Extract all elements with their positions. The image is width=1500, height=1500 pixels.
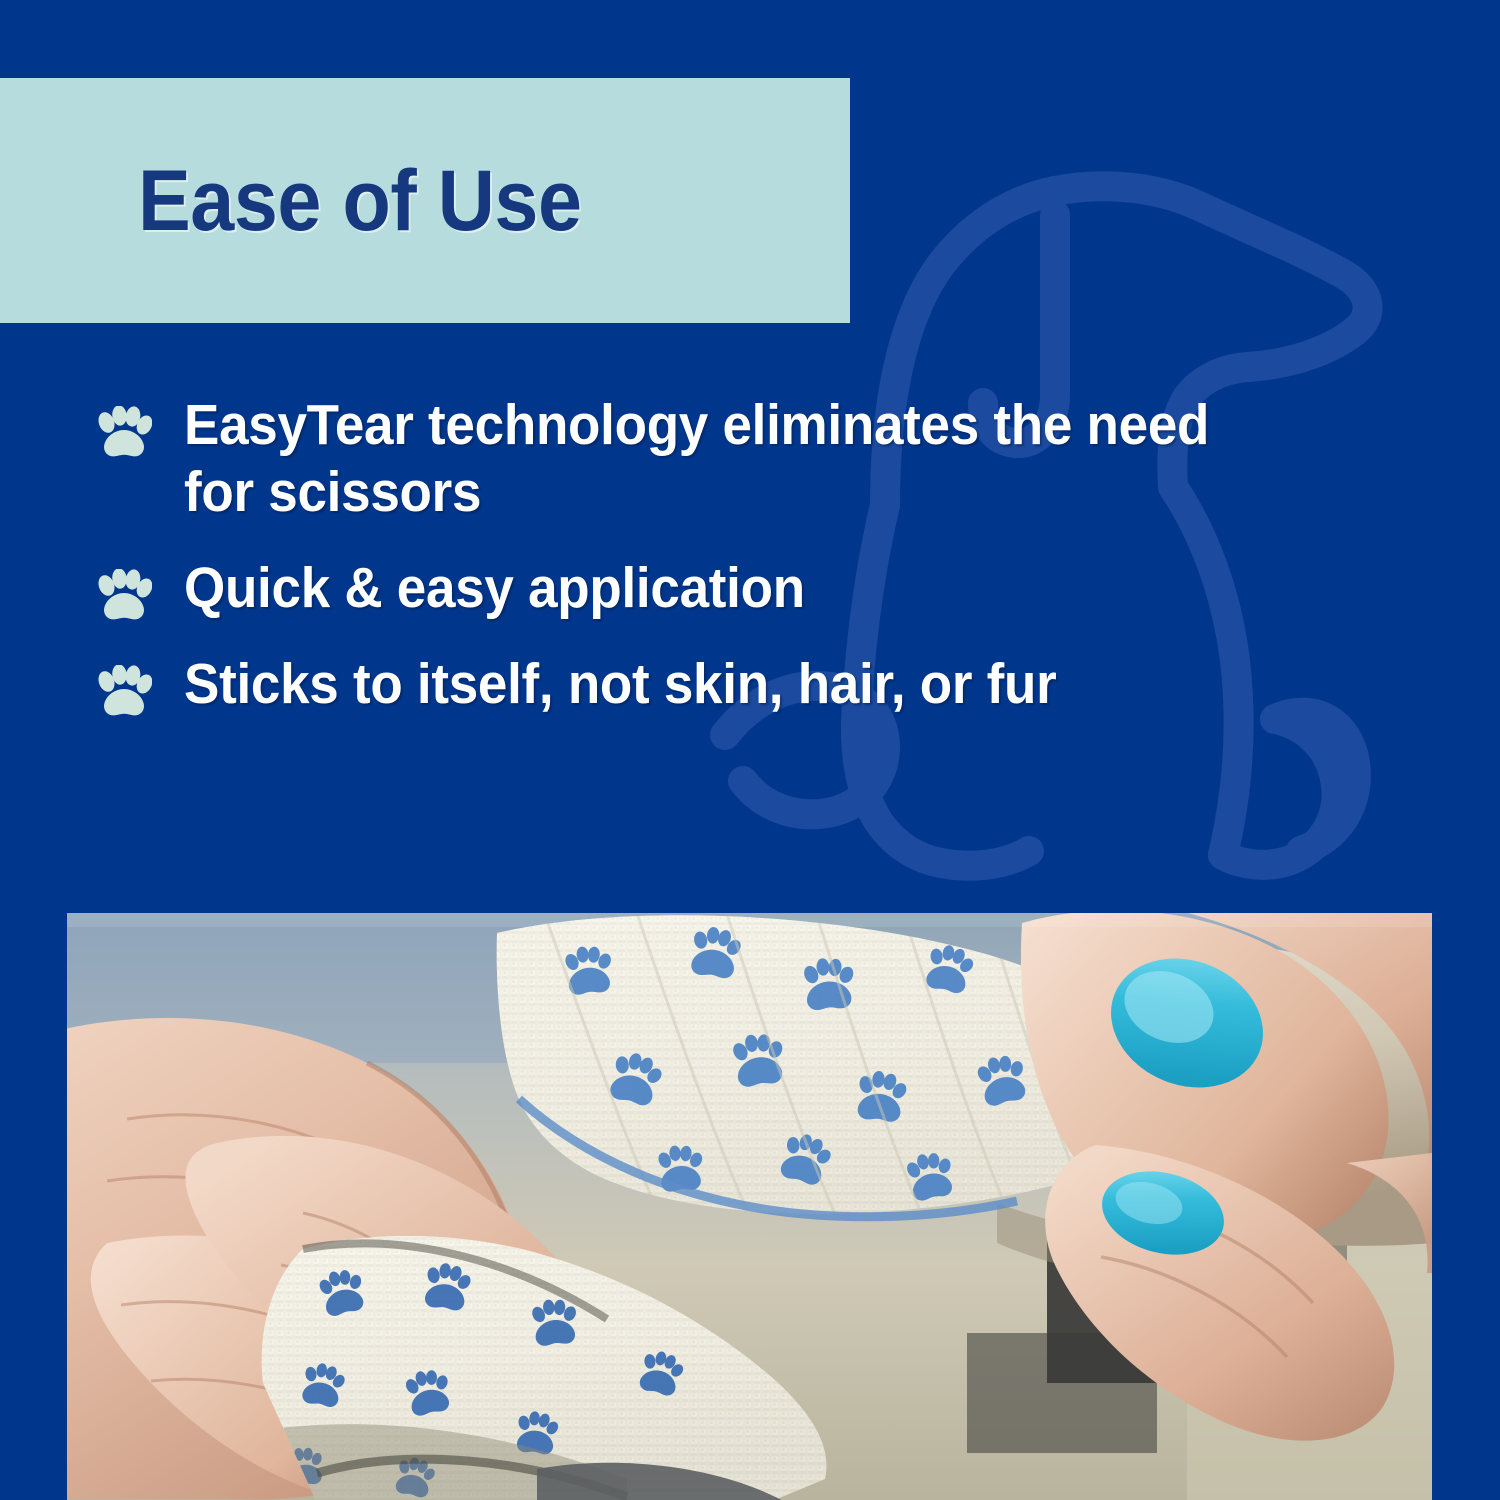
list-item-label: Quick & easy application	[184, 555, 805, 622]
list-item-label: EasyTear technology eliminates the need …	[184, 392, 1235, 527]
list-item-label: Sticks to itself, not skin, hair, or fur	[184, 651, 1057, 718]
paw-print-icon	[96, 651, 184, 719]
list-item: EasyTear technology eliminates the need …	[96, 392, 1436, 527]
infographic-canvas: Ease of Use EasyTear technology eliminat…	[0, 0, 1500, 1500]
bandage-tear-photo	[67, 913, 1432, 1500]
page-title: Ease of Use	[138, 158, 582, 244]
ease-of-use-banner: Ease of Use	[0, 78, 850, 323]
paw-print-icon	[96, 392, 184, 460]
list-item: Sticks to itself, not skin, hair, or fur	[96, 651, 1436, 719]
list-item: Quick & easy application	[96, 555, 1436, 623]
paw-print-icon	[96, 555, 184, 623]
feature-bullet-list: EasyTear technology eliminates the need …	[96, 392, 1436, 747]
